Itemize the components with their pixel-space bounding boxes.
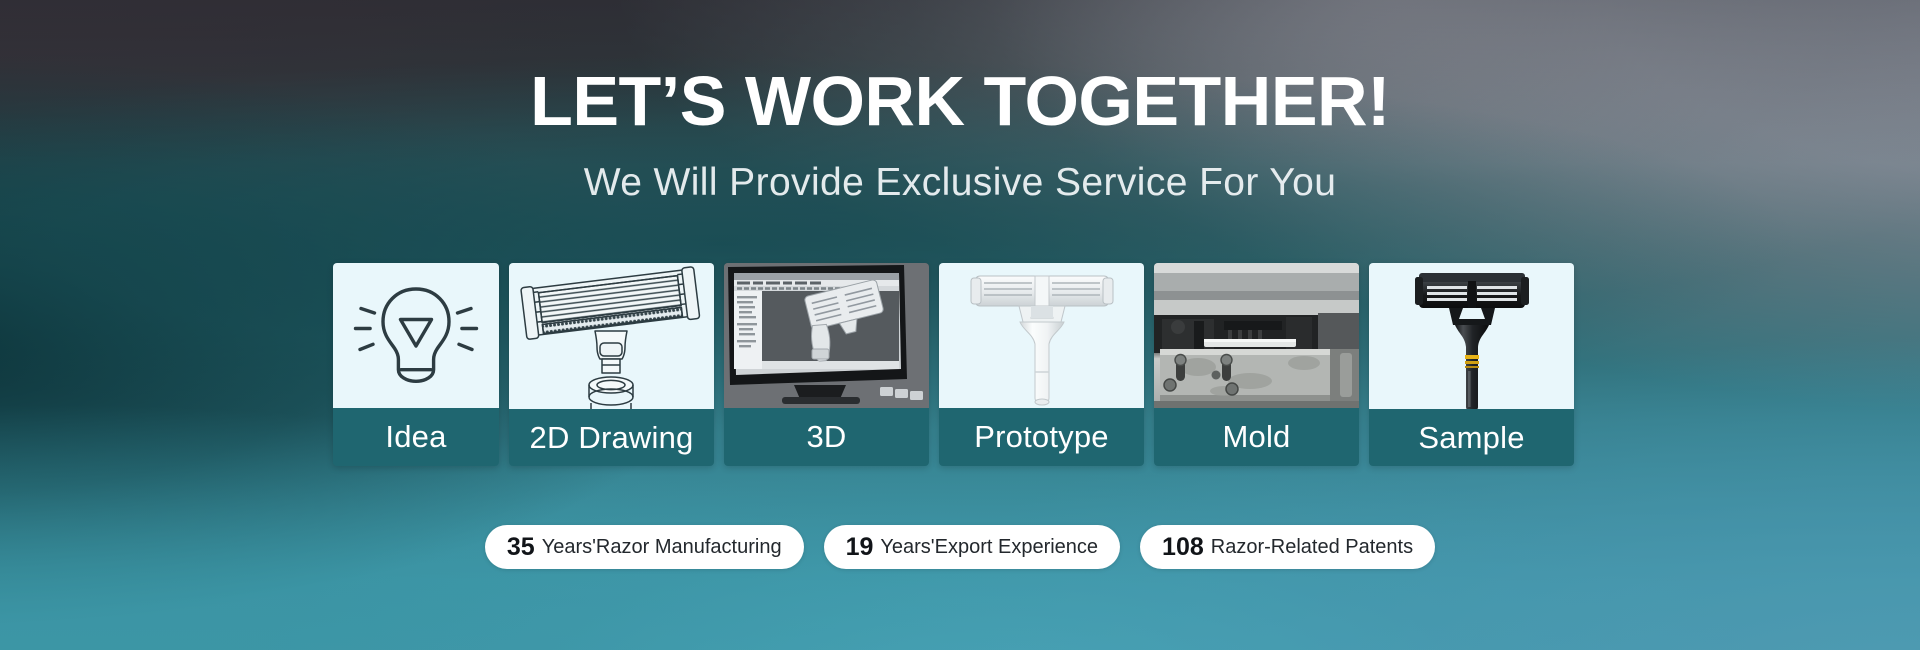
process-card-sample-media xyxy=(1369,263,1574,409)
stat-number: 108 xyxy=(1162,535,1204,560)
stat-label: Years'Razor Manufacturing xyxy=(542,537,782,557)
process-card-sample-label: Sample xyxy=(1369,409,1574,466)
process-card-prototype-label: Prototype xyxy=(939,408,1144,466)
process-card-idea-label: Idea xyxy=(333,408,499,466)
stat-label: Years'Export Experience xyxy=(880,537,1098,557)
razor-prototype-icon xyxy=(957,266,1127,406)
stat-badge-patents: 108 Razor-Related Patents xyxy=(1140,525,1435,569)
process-card-3d-label: 3D xyxy=(724,408,929,466)
process-card-3d[interactable]: 3D xyxy=(724,263,929,466)
process-card-mold-media xyxy=(1154,263,1359,408)
razor-2d-drawing-icon xyxy=(519,263,704,409)
process-card-prototype-media xyxy=(939,263,1144,408)
stat-number: 35 xyxy=(507,535,535,560)
page-title: LET’S WORK TOGETHER! xyxy=(0,62,1920,140)
process-steps: Idea xyxy=(333,263,1589,466)
monitor-cad-photo xyxy=(724,263,929,408)
process-card-3d-media xyxy=(724,263,929,408)
process-card-sample[interactable]: Sample xyxy=(1369,263,1574,466)
stats-row: 35 Years'Razor Manufacturing 19 Years'Ex… xyxy=(0,525,1920,569)
stat-badge-years-export: 19 Years'Export Experience xyxy=(824,525,1120,569)
razor-sample-icon xyxy=(1397,263,1547,409)
process-card-prototype[interactable]: Prototype xyxy=(939,263,1144,466)
stat-number: 19 xyxy=(846,535,874,560)
lightbulb-icon xyxy=(341,273,491,399)
process-card-mold-label: Mold xyxy=(1154,408,1359,466)
mold-machine-photo xyxy=(1154,263,1359,408)
stat-label: Razor-Related Patents xyxy=(1211,537,1413,557)
process-card-idea-media xyxy=(333,263,499,408)
stat-badge-years-manufacturing: 35 Years'Razor Manufacturing xyxy=(485,525,804,569)
process-card-2d-drawing-media xyxy=(509,263,714,409)
process-card-idea[interactable]: Idea xyxy=(333,263,499,466)
process-card-2d-drawing[interactable]: 2D Drawing xyxy=(509,263,714,466)
process-card-mold[interactable]: Mold xyxy=(1154,263,1359,466)
page-subtitle: We Will Provide Exclusive Service For Yo… xyxy=(0,160,1920,206)
process-card-2d-drawing-label: 2D Drawing xyxy=(509,409,714,466)
